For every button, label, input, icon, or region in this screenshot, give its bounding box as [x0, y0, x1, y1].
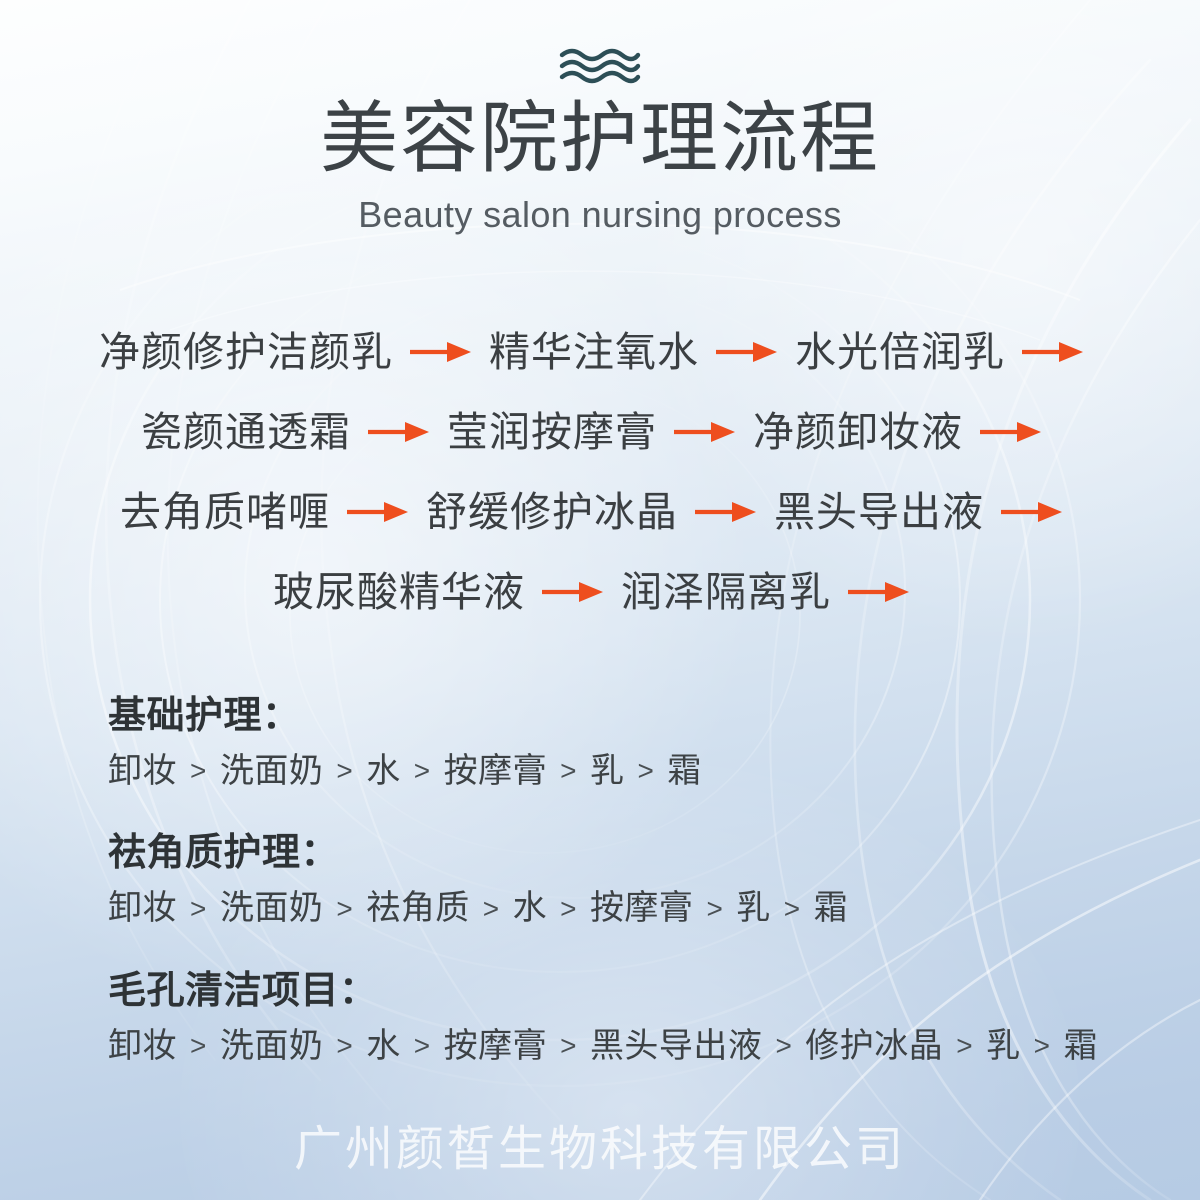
right-arrow-icon [979, 419, 1043, 445]
right-arrow-icon [346, 499, 410, 525]
care-step: 乳 [986, 1026, 1021, 1067]
flow-item: 舒缓修护冰晶 [426, 492, 678, 533]
flow-item: 去角质啫喱 [120, 492, 330, 533]
care-step: 按摩膏 [444, 751, 548, 792]
care-step: 卸妆 [108, 1026, 177, 1067]
flow-item: 黑头导出液 [774, 492, 984, 533]
right-arrow-icon [1021, 339, 1085, 365]
care-step-separator: > [560, 754, 577, 788]
flow-item: 玻尿酸精华液 [273, 572, 525, 613]
care-step-separator: > [784, 892, 801, 926]
flow-item: 水光倍润乳 [795, 332, 1005, 373]
care-step-separator: > [483, 892, 500, 926]
flow-row: 去角质啫喱舒缓修护冰晶黑头导出液 [0, 472, 1200, 552]
care-step-separator: > [956, 1029, 973, 1063]
care-step-separator: > [560, 892, 577, 926]
care-step-separator: > [706, 892, 723, 926]
care-step: 卸妆 [108, 888, 177, 929]
care-step: 霜 [667, 751, 702, 792]
care-step: 霜 [1064, 1026, 1099, 1067]
care-step: 乳 [590, 751, 625, 792]
care-step-separator: > [637, 754, 654, 788]
care-step: 按摩膏 [444, 1026, 548, 1067]
care-section-heading: 毛孔清洁项目： [108, 970, 1140, 1014]
care-step-separator: > [190, 892, 207, 926]
care-step: 水 [513, 888, 548, 929]
flow-item: 润泽隔离乳 [621, 572, 831, 613]
flow-item: 净颜卸妆液 [753, 412, 963, 453]
right-arrow-icon [694, 499, 758, 525]
care-step-separator: > [1034, 1029, 1051, 1063]
care-step: 霜 [814, 888, 849, 929]
care-step-list: 卸妆>洗面奶>祛角质>水>按摩膏>乳>霜 [108, 888, 1140, 929]
care-step: 水 [366, 1026, 401, 1067]
flow-item: 莹润按摩膏 [447, 412, 657, 453]
right-arrow-icon [673, 419, 737, 445]
flow-item: 精华注氧水 [489, 332, 699, 373]
title-block: 美容院护理流程 Beauty salon nursing process [0, 98, 1200, 234]
care-section-heading: 基础护理： [108, 695, 1140, 739]
care-step-separator: > [775, 1029, 792, 1063]
care-step: 洗面奶 [220, 888, 324, 929]
care-step-separator: > [190, 754, 207, 788]
care-step-separator: > [336, 1029, 353, 1063]
care-sections: 基础护理：卸妆>洗面奶>水>按摩膏>乳>霜祛角质护理：卸妆>洗面奶>祛角质>水>… [108, 695, 1140, 1066]
care-step: 修护冰晶 [805, 1026, 943, 1067]
care-step: 乳 [736, 888, 771, 929]
care-step-separator: > [336, 754, 353, 788]
wave-lines-icon [0, 46, 1200, 86]
flow-row: 瓷颜通透霜莹润按摩膏净颜卸妆液 [0, 392, 1200, 472]
care-step: 水 [366, 751, 401, 792]
care-step-separator: > [414, 1029, 431, 1063]
care-step: 黑头导出液 [590, 1026, 763, 1067]
poster-root: 美容院护理流程 Beauty salon nursing process 净颜修… [0, 0, 1200, 1200]
care-step: 按摩膏 [590, 888, 694, 929]
right-arrow-icon [541, 579, 605, 605]
care-section: 祛角质护理：卸妆>洗面奶>祛角质>水>按摩膏>乳>霜 [108, 832, 1140, 928]
care-section: 毛孔清洁项目：卸妆>洗面奶>水>按摩膏>黑头导出液>修护冰晶>乳>霜 [108, 970, 1140, 1066]
care-step: 洗面奶 [220, 1026, 324, 1067]
flow-row: 净颜修护洁颜乳精华注氧水水光倍润乳 [0, 312, 1200, 392]
care-step-separator: > [560, 1029, 577, 1063]
flow-item: 净颜修护洁颜乳 [99, 332, 393, 373]
page-title: 美容院护理流程 [0, 98, 1200, 181]
care-step-separator: > [414, 754, 431, 788]
poster-content: 美容院护理流程 Beauty salon nursing process 净颜修… [0, 0, 1200, 1200]
right-arrow-icon [847, 579, 911, 605]
right-arrow-icon [715, 339, 779, 365]
care-step: 卸妆 [108, 751, 177, 792]
care-step: 祛角质 [366, 888, 470, 929]
care-section: 基础护理：卸妆>洗面奶>水>按摩膏>乳>霜 [108, 695, 1140, 791]
right-arrow-icon [1000, 499, 1064, 525]
product-flow: 净颜修护洁颜乳精华注氧水水光倍润乳瓷颜通透霜莹润按摩膏净颜卸妆液去角质啫喱舒缓修… [0, 312, 1200, 632]
flow-row: 玻尿酸精华液润泽隔离乳 [0, 552, 1200, 632]
care-step-separator: > [190, 1029, 207, 1063]
flow-item: 瓷颜通透霜 [141, 412, 351, 453]
page-subtitle: Beauty salon nursing process [0, 195, 1200, 235]
care-step-list: 卸妆>洗面奶>水>按摩膏>黑头导出液>修护冰晶>乳>霜 [108, 1026, 1140, 1067]
care-step-separator: > [336, 892, 353, 926]
care-section-heading: 祛角质护理： [108, 832, 1140, 876]
right-arrow-icon [409, 339, 473, 365]
care-step: 洗面奶 [220, 751, 324, 792]
care-step-list: 卸妆>洗面奶>水>按摩膏>乳>霜 [108, 751, 1140, 792]
right-arrow-icon [367, 419, 431, 445]
